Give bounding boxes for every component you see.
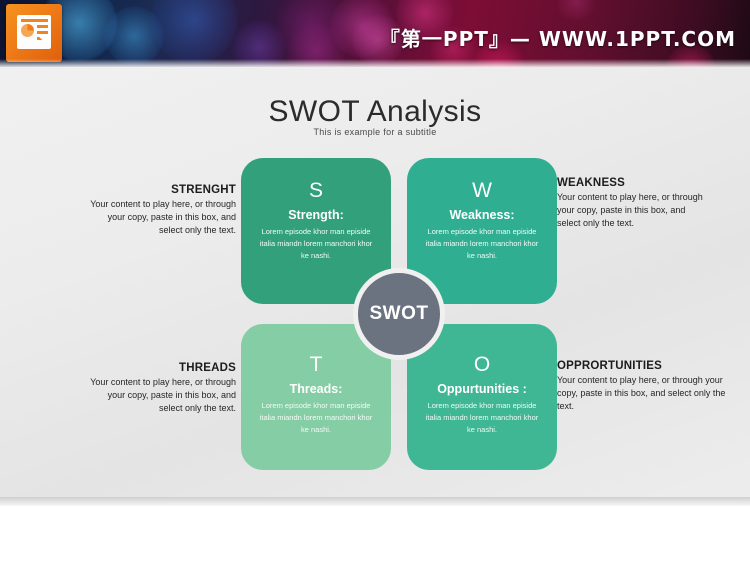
- petal-body: Lorem episode khor man episide italia mi…: [241, 226, 391, 261]
- swot-diagram: S Strength: Lorem episode khor man episi…: [241, 158, 557, 470]
- petal-letter: T: [241, 354, 391, 375]
- petal-body: Lorem episode khor man episide italia mi…: [241, 400, 391, 435]
- header-fade: [0, 59, 750, 67]
- powerpoint-logo-icon: [6, 4, 62, 62]
- brand-text: 『第一PPT』— WWW.1PPT.COM: [380, 23, 736, 52]
- caption-strength[interactable]: STRENGHT Your content to play here, or t…: [86, 184, 236, 236]
- caption-opportunities[interactable]: OPPRORTUNITIES Your content to play here…: [557, 360, 727, 412]
- logo-pie-icon: [21, 24, 34, 37]
- logo-corner-fold: [36, 34, 48, 46]
- caption-body: Your content to play here, or through yo…: [557, 191, 707, 229]
- petal-heading: Threads:: [241, 382, 391, 396]
- swot-center-label: SWOT: [370, 303, 429, 325]
- petal-body: Lorem episode khor man episide italia mi…: [407, 400, 557, 435]
- page-title: SWOT Analysis: [0, 95, 750, 129]
- petal-heading: Oppurtunities :: [407, 382, 557, 396]
- petal-letter: W: [407, 180, 557, 201]
- caption-body: Your content to play here, or through yo…: [557, 374, 727, 412]
- caption-heading: THREADS: [86, 362, 236, 374]
- caption-weakness[interactable]: WEAKNESS Your content to play here, or t…: [557, 177, 707, 229]
- caption-threads[interactable]: THREADS Your content to play here, or th…: [86, 362, 236, 414]
- caption-body: Your content to play here, or through yo…: [86, 198, 236, 236]
- footer-bar: 第一PPT HTTP://WWW.1PPT.COM: [0, 506, 750, 563]
- petal-body: Lorem episode khor man episide italia mi…: [407, 226, 557, 261]
- bokeh-circle: [556, 0, 596, 22]
- swot-center-circle[interactable]: SWOT: [353, 268, 445, 360]
- logo-line: [37, 25, 48, 28]
- presentation-slide: 『第一PPT』— WWW.1PPT.COM SWOT Analysis This…: [0, 0, 750, 563]
- bokeh-circle: [104, 6, 164, 66]
- bokeh-circle: [150, 0, 238, 64]
- logo-header-bar: [21, 19, 48, 22]
- caption-heading: WEAKNESS: [557, 177, 707, 189]
- caption-heading: OPPRORTUNITIES: [557, 360, 727, 372]
- header-banner: 『第一PPT』— WWW.1PPT.COM: [0, 0, 750, 67]
- petal-heading: Strength:: [241, 208, 391, 222]
- logo-document-shape: [17, 15, 51, 49]
- petal-letter: S: [241, 180, 391, 201]
- petal-letter: O: [407, 354, 557, 375]
- footer-divider: [0, 497, 750, 506]
- petal-heading: Weakness:: [407, 208, 557, 222]
- caption-heading: STRENGHT: [86, 184, 236, 196]
- bokeh-circle: [276, 0, 346, 60]
- page-subtitle: This is example for a subtitle: [0, 127, 750, 137]
- caption-body: Your content to play here, or through yo…: [86, 376, 236, 414]
